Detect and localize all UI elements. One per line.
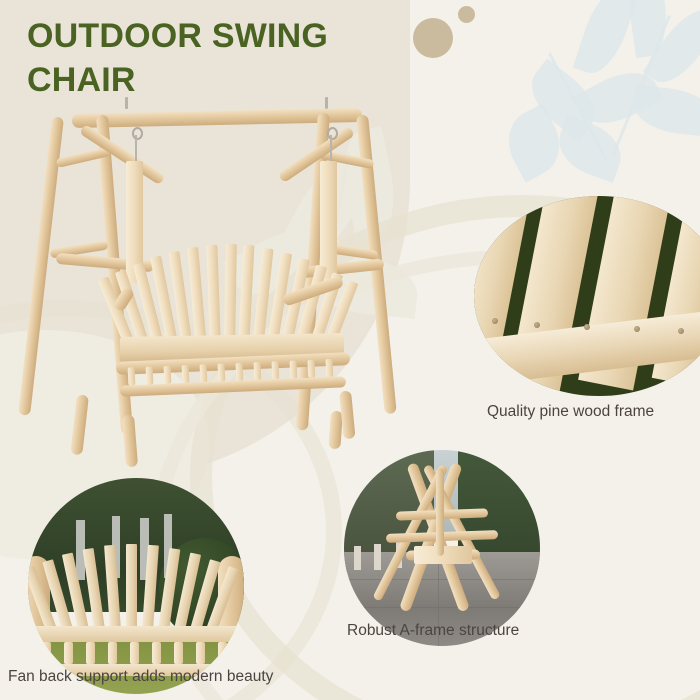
fan-spindle [42,642,51,664]
fan-spindle-row [36,642,236,666]
fan-spindle [86,642,95,664]
fan-spindle [152,642,161,664]
back-slat [206,245,221,349]
feature-caption-fan-back: Fan back support adds modern beauty [8,668,273,686]
fan-spindle [130,642,139,664]
hook-icon [132,127,143,140]
fan-spindle [196,642,205,664]
bench-spindle [146,366,154,384]
bench-spindle [182,365,190,383]
fan-spindle [218,642,227,664]
feature-image-pine-frame [474,196,700,396]
fan-spindle [108,642,117,664]
screw-icon [534,322,540,328]
eye-bolt-icon [325,97,328,109]
bench-seat-rail [32,626,240,642]
hanging-chain [330,135,332,163]
frame-leg-left-inner-lower [122,415,138,468]
hanging-chain [135,135,137,163]
bench-spindle [272,361,280,379]
bench-spindle [128,367,136,385]
circle-accent-large-icon [413,18,453,58]
feature-image-a-frame [344,450,540,646]
feature-image-fan-back [28,478,244,694]
screw-icon [634,326,640,332]
fan-spindle [64,642,73,664]
feature-caption-pine-frame: Quality pine wood frame [487,403,654,421]
bench-spindle [164,366,172,384]
fan-spindle [174,642,183,664]
leaf-icon [551,115,629,183]
product-marketing-canvas: OUTDOOR SWING CHAIR [0,0,700,700]
circle-accent-small-icon [458,6,475,23]
bench-spindle [200,364,208,382]
painted-trunk [374,544,381,570]
bench-spindle [289,360,297,378]
eye-bolt-icon [125,97,128,109]
screw-icon [492,318,498,324]
aframe-hanger [436,468,444,556]
page-title: OUTDOOR SWING CHAIR [27,14,387,102]
screw-icon [678,328,684,334]
frame-leg-left-outer-lower [70,394,89,455]
bench-spindle [236,363,244,381]
fan-back-slat [126,544,137,630]
path-seam [344,579,540,580]
back-slat [238,245,254,349]
bench-spindle [218,363,226,381]
leaf-icon [631,85,700,137]
path-seam [344,607,540,608]
hook-icon [327,127,338,140]
bench-spindle [325,359,333,377]
bench-spindle [254,362,262,380]
page-title-line-1: OUTDOOR SWING [27,14,387,58]
painted-trunk [354,546,361,570]
screw-icon [584,324,590,330]
back-slat [224,244,237,349]
hero-product-image [20,95,440,465]
bench-spindle [307,360,315,378]
feature-caption-a-frame: Robust A-frame structure [347,622,519,640]
